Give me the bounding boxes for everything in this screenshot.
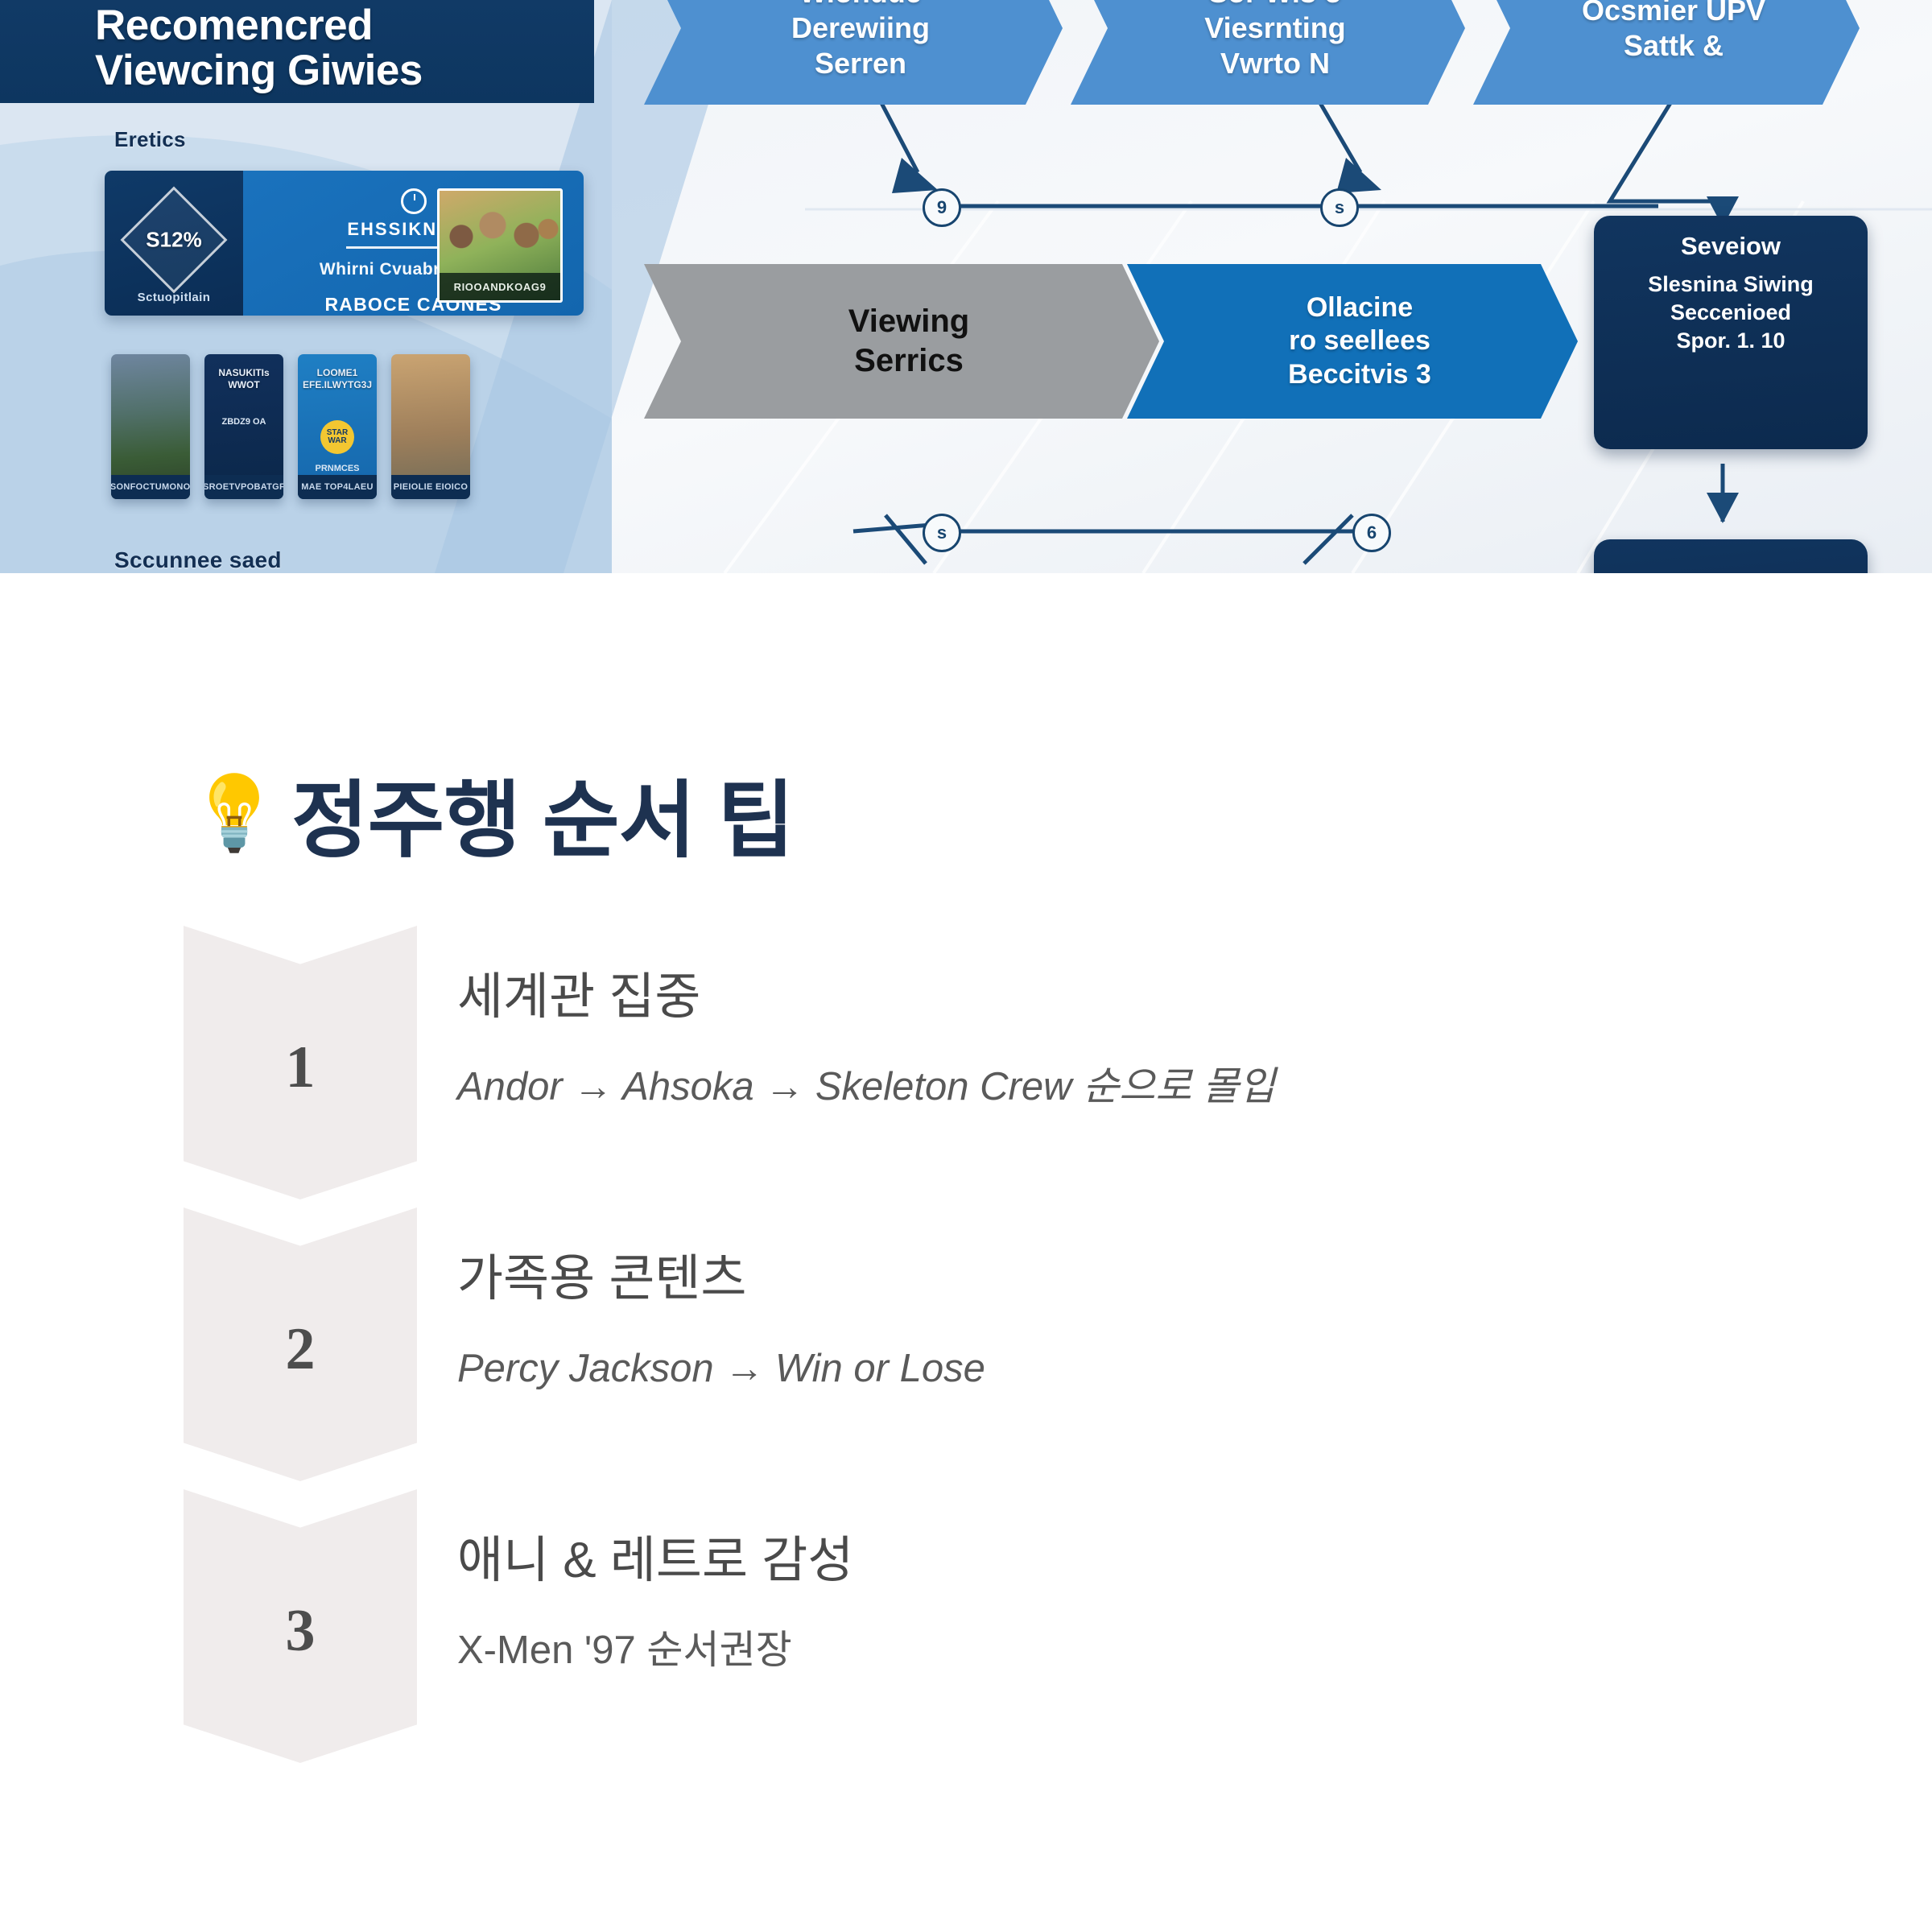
feature-card-right-panel: EHSSIKNCER Whirni Cvuabrit cvvgn RABOCE … <box>243 171 584 316</box>
step-subtitle: Andor → Ahsoka → Skeleton Crew 순으로 몰입 <box>457 1063 1826 1111</box>
tips-step-item: 3 애니 & 레트로 감성 X-Men '97 순서권장 <box>0 1489 1932 1773</box>
feature-diamond-value: S12% <box>146 228 201 253</box>
hero-result-box: Seveiow Slesnina Siwing Seccenioed Spor.… <box>1594 216 1868 449</box>
step-number-chevron: 3 <box>184 1489 417 1763</box>
page-title-text: 정주행 순서 팁 <box>291 752 794 873</box>
poster-card: PIEIOLIE EIOICO <box>391 354 470 499</box>
step-body: 애니 & 레트로 감성 X-Men '97 순서권장 <box>457 1531 1826 1674</box>
hero-node-9: 9 <box>923 188 961 227</box>
hero-feature-card: S12% Sctuopitlain EHSSIKNCER Whirni Cvua… <box>105 171 584 316</box>
tips-step-item: 2 가족용 콘텐츠 Percy Jackson → Win or Lose <box>0 1207 1932 1491</box>
hero-node-s-1: s <box>1320 188 1359 227</box>
hero-banner-line-2: Viewcing Giwies <box>95 48 573 93</box>
step-number: 1 <box>286 1038 316 1097</box>
hero-result-box-secondary <box>1594 539 1868 573</box>
hero-infographic-image: Recomencred Viewcing Giwies Eretics Sccu… <box>0 0 1932 573</box>
poster-caption: PIEIOLIE EIOICO <box>391 475 470 499</box>
step-number: 2 <box>286 1319 316 1379</box>
poster-caption: LASONFOCTUMONONE <box>111 475 190 499</box>
tips-section: 정주행 순서 팁 1 세계관 집중 Andor → Ahsoka → Skele… <box>0 573 1932 1932</box>
hero-banner-title: Recomencred Viewcing Giwies <box>0 0 594 103</box>
step-number-chevron: 1 <box>184 926 417 1199</box>
lightbulb-icon <box>200 770 269 857</box>
poster-card: LASONFOCTUMONONE <box>111 354 190 499</box>
poster-title: LOOME1EFE.ILWYTG3J <box>302 367 373 391</box>
poster-mid-text: ZBDZ9 OA <box>204 417 283 427</box>
result-box-line-1: Slesnina Siwing <box>1607 270 1855 299</box>
hero-chevron-viewing-serrics: ViewingSerrics <box>644 264 1159 419</box>
result-box-line-2: Seccenioed <box>1607 299 1855 327</box>
feature-card-left-panel: S12% Sctuopitlain <box>105 171 243 316</box>
hero-chevron-derewiing: WionuueDerewiingSerren <box>644 0 1063 105</box>
people-illustration <box>440 199 560 262</box>
hero-banner-line-1: Recomencred <box>95 2 373 49</box>
step-body: 가족용 콘텐츠 Percy Jackson → Win or Lose <box>457 1249 1826 1393</box>
poster-card: NASUKITIsWWOT ZBDZ9 OA SROETVPOBATGF <box>204 354 283 499</box>
step-title: 애니 & 레트로 감성 <box>457 1531 1826 1590</box>
step-title: 가족용 콘텐츠 <box>457 1249 1826 1308</box>
page-title: 정주행 순서 팁 <box>200 752 794 873</box>
step-number-chevron: 2 <box>184 1207 417 1481</box>
step-number: 3 <box>286 1601 316 1661</box>
feature-thumb-caption: RIOOANDKOAG9 <box>440 273 560 300</box>
hero-chevron-ocsmier: Ocsmier UPVSattk & <box>1473 0 1860 105</box>
poster-badge: STARWAR <box>320 420 354 454</box>
step-subtitle: Percy Jackson → Win or Lose <box>457 1345 1826 1393</box>
poster-caption: SROETVPOBATGF <box>204 475 283 499</box>
poster-card: LOOME1EFE.ILWYTG3J STARWAR PRNMCES MAE T… <box>298 354 377 499</box>
result-box-line-3: Spor. 1. 10 <box>1607 327 1855 355</box>
hero-node-s-2: s <box>923 514 961 552</box>
tips-step-item: 1 세계관 집중 Andor → Ahsoka → Skeleton Crew … <box>0 926 1932 1209</box>
hero-node-6: 6 <box>1352 514 1391 552</box>
hero-chevron-viesrnting: Sor Wis oViesrntingVwrto N <box>1071 0 1465 105</box>
poster-title: NASUKITIsWWOT <box>208 367 279 391</box>
hero-label-eretics: Eretics <box>114 127 186 152</box>
step-title: 세계관 집중 <box>457 968 1826 1026</box>
feature-left-caption: Sctuopitlain <box>105 291 243 304</box>
feature-thumbnail: RIOOANDKOAG9 <box>437 188 563 303</box>
clock-icon <box>401 188 427 214</box>
poster-mid-text: PRNMCES <box>298 464 377 473</box>
poster-caption: MAE TOP4LAEU <box>298 475 377 499</box>
step-body: 세계관 집중 Andor → Ahsoka → Skeleton Crew 순으… <box>457 968 1826 1111</box>
result-box-title: Seveiow <box>1607 230 1855 262</box>
poster-strip: LASONFOCTUMONONE NASUKITIsWWOT ZBDZ9 OA … <box>111 354 470 499</box>
step-subtitle: X-Men '97 순서권장 <box>457 1627 1826 1674</box>
hero-label-scunnee: Sccunnee saed <box>114 547 282 573</box>
hero-chevron-ollacine: Ollacinero seelleesBeccitvis 3 <box>1127 264 1578 419</box>
